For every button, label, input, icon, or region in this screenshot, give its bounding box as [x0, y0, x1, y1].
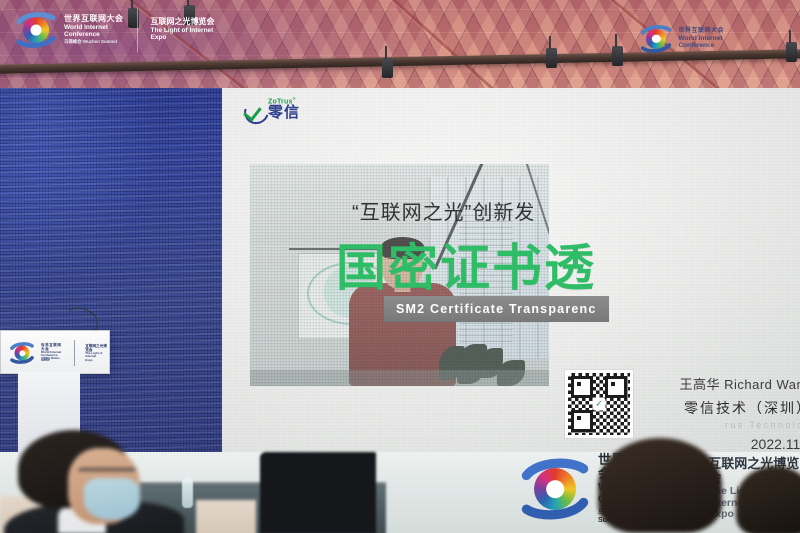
audience-member-center	[598, 438, 728, 533]
face-mask	[84, 478, 140, 520]
photo-scene: 世界互联网大会 World Internet Conference 乌镇峰会·W…	[0, 0, 800, 533]
audience-member-right	[736, 466, 800, 533]
qr-finder-icon	[571, 410, 593, 432]
logo-divider	[137, 8, 138, 52]
wall-conference-logo: 世界互联网大会 World Internet Conference 乌镇峰会·W…	[14, 8, 215, 52]
wic-logo-icon	[9, 340, 35, 366]
slide-logo-cn: 世界互联网大会	[678, 28, 724, 35]
stage-spotlight	[546, 48, 557, 68]
slide-main-title: 国密证书透	[336, 228, 596, 300]
expo-logo-cn: 互联网之光博览会	[151, 18, 215, 27]
audience-member-foreground	[4, 430, 164, 533]
wic-logo-icon	[518, 452, 592, 526]
lectern-logo-summit: 乌镇峰会·Wuzhen Summit	[41, 358, 64, 363]
expo-logo-en-2: Expo	[151, 34, 215, 41]
qr-finder-icon	[571, 376, 593, 398]
speaker-org-cn: 零信技术（深圳）	[652, 398, 800, 418]
wic-logo-text: 世界互联网大会 World Internet Conference 乌镇峰会·W…	[64, 15, 124, 45]
water-bottle	[182, 478, 193, 508]
seat-back	[196, 500, 256, 533]
stage-spotlight	[382, 58, 393, 78]
wic-logo-icon	[639, 22, 673, 56]
wic-logo-en-2: Conference	[64, 31, 124, 38]
speaker-name: 王高华 Richard Wang	[652, 374, 800, 393]
slide-headline: “互联网之光”创新发	[352, 196, 535, 225]
stage-spotlight	[786, 42, 797, 62]
wic-logo-summit: 乌镇峰会·Wuzhen Summit	[64, 40, 124, 45]
expo-logo-en-1: The Light of Internet	[151, 27, 215, 34]
logo-divider	[74, 340, 75, 366]
stage-spotlight	[612, 46, 623, 66]
qr-finder-icon	[605, 376, 627, 398]
qr-center-logo-icon: ✓	[593, 398, 606, 411]
slide-subtitle-bar: SM2 Certificate Transparenc	[384, 296, 609, 322]
expo-logo-text: 互联网之光博览会 The Light of Internet Expo	[151, 18, 215, 41]
slide-logo-en-2: Conference	[678, 42, 724, 49]
wic-logo-cn: 世界互联网大会	[64, 15, 124, 24]
chair-back	[260, 452, 376, 533]
wic-logo-icon	[14, 8, 58, 52]
slide-conference-logo: 世界互联网大会 World Internet Conference	[639, 22, 724, 56]
slide-logo-en-1: World Internet	[678, 35, 724, 42]
qr-code[interactable]: ✓	[565, 370, 633, 438]
slide-subtitle: SM2 Certificate Transparenc	[396, 302, 597, 316]
lectern-conference-logo: 世界互联网大会 World Internet Conference 乌镇峰会·W…	[9, 340, 109, 366]
lectern-expo-en-2: Expo	[85, 359, 109, 362]
wic-logo-en-1: World Internet	[64, 24, 124, 31]
lectern-panel: 世界互联网大会 World Internet Conference 乌镇峰会·W…	[0, 330, 110, 374]
speaker-org-en: rus Technolog	[652, 420, 800, 430]
